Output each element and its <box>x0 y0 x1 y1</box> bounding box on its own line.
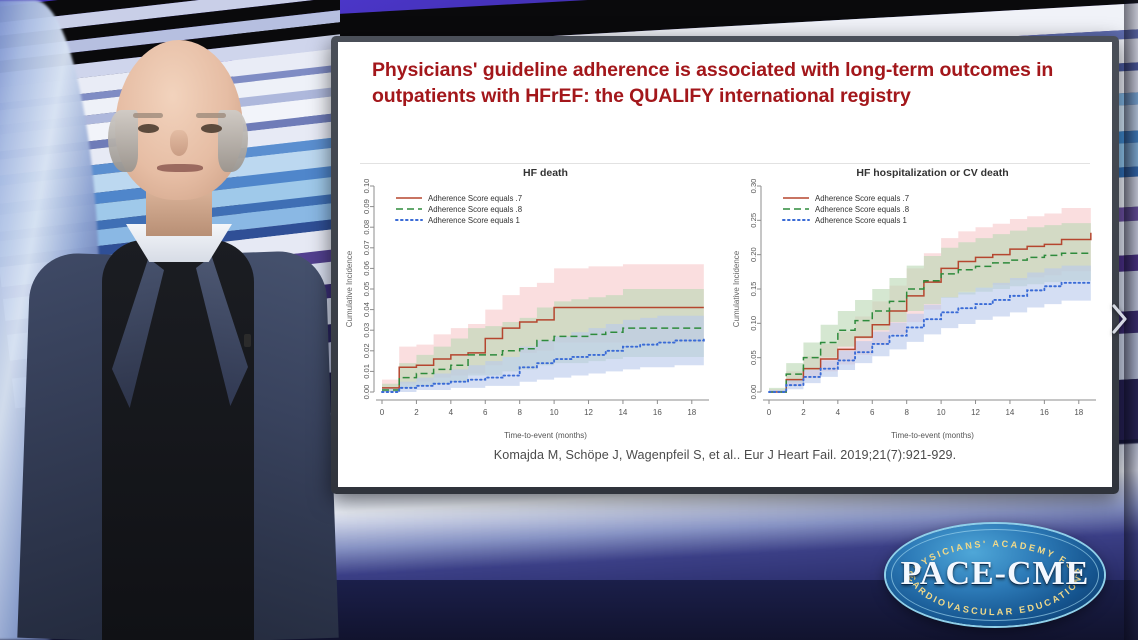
chart-hf-death: 0246810121416180.000.010.020.030.040.050… <box>338 164 725 444</box>
chart-title: HF hospitalization or CV death <box>856 167 1008 179</box>
presenter <box>20 18 330 640</box>
video-frame: Physicians' guideline adherence is assoc… <box>0 0 1138 640</box>
y-axis-title: Cumulative Incidence <box>345 250 354 327</box>
charts-row: 0246810121416180.000.010.020.030.040.050… <box>338 164 1112 444</box>
y-tick-label: 0.01 <box>362 364 371 379</box>
x-axis-title: Time-to-event (months) <box>891 431 974 440</box>
legend-label: Adherence Score equals .7 <box>815 194 909 203</box>
y-tick-label: 0.05 <box>362 282 371 297</box>
x-tick-label: 8 <box>904 408 909 417</box>
slide-screen: Physicians' guideline adherence is assoc… <box>331 36 1119 494</box>
y-tick-label: 0.25 <box>749 213 758 228</box>
chart-svg: 0246810121416180.000.010.020.030.040.050… <box>338 164 725 444</box>
pace-cme-logo: PHYSICIANS' ACADEMY FOR CARDIOVASCULAR E… <box>886 524 1104 626</box>
y-tick-label: 0.15 <box>749 282 758 297</box>
x-tick-label: 6 <box>483 408 488 417</box>
legend-label: Adherence Score equals 1 <box>815 216 907 225</box>
x-tick-label: 16 <box>653 408 662 417</box>
next-slide-button[interactable] <box>1106 296 1134 342</box>
legend-label: Adherence Score equals 1 <box>428 216 520 225</box>
x-tick-label: 14 <box>1005 408 1014 417</box>
y-tick-label: 0.05 <box>749 350 758 365</box>
y-tick-label: 0.06 <box>362 261 371 276</box>
x-tick-label: 12 <box>971 408 980 417</box>
sweater <box>102 240 254 640</box>
x-tick-label: 12 <box>584 408 593 417</box>
hair-right <box>218 110 248 172</box>
legend-label: Adherence Score equals .7 <box>428 194 522 203</box>
y-tick-label: 0.07 <box>362 240 371 255</box>
y-tick-label: 0.04 <box>362 302 371 317</box>
y-tick-label: 0.30 <box>749 179 758 194</box>
x-tick-label: 2 <box>414 408 419 417</box>
y-axis-title: Cumulative Incidence <box>732 250 741 327</box>
eyebrow-right <box>196 113 226 118</box>
lapel-microphone <box>244 334 251 347</box>
mouth <box>157 164 203 172</box>
chart-svg: 0246810121416180.000.050.100.150.200.250… <box>725 164 1112 444</box>
x-tick-label: 10 <box>937 408 946 417</box>
x-tick-label: 10 <box>550 408 559 417</box>
legend-label: Adherence Score equals .8 <box>428 205 522 214</box>
y-tick-label: 0.10 <box>749 316 758 331</box>
x-tick-label: 14 <box>618 408 627 417</box>
nose <box>170 130 188 156</box>
hair-left <box>108 110 138 172</box>
x-tick-label: 8 <box>517 408 522 417</box>
x-tick-label: 18 <box>1074 408 1083 417</box>
chart-title: HF death <box>523 167 568 179</box>
y-tick-label: 0.20 <box>749 247 758 262</box>
x-tick-label: 16 <box>1040 408 1049 417</box>
legend-label: Adherence Score equals .8 <box>815 205 909 214</box>
y-tick-label: 0.00 <box>362 385 371 400</box>
chevron-right-icon <box>1110 302 1130 336</box>
y-tick-label: 0.10 <box>362 179 371 194</box>
y-tick-label: 0.03 <box>362 323 371 338</box>
slide-content: Physicians' guideline adherence is assoc… <box>338 42 1112 487</box>
eye-right <box>201 124 222 133</box>
x-tick-label: 0 <box>380 408 385 417</box>
eyebrow-left <box>133 113 163 118</box>
x-tick-label: 2 <box>801 408 806 417</box>
y-tick-label: 0.02 <box>362 343 371 358</box>
x-tick-label: 18 <box>687 408 696 417</box>
eye-left <box>138 124 159 133</box>
chart-hf-hosp-cv-death: 0246810121416180.000.050.100.150.200.250… <box>725 164 1112 444</box>
x-tick-label: 6 <box>870 408 875 417</box>
logo-wordmark: PACE-CME <box>886 555 1104 593</box>
y-tick-label: 0.09 <box>362 199 371 214</box>
slide-citation: Komajda M, Schöpe J, Wagenpfeil S, et al… <box>338 448 1112 462</box>
slide-title: Physicians' guideline adherence is assoc… <box>372 58 1082 110</box>
x-axis-title: Time-to-event (months) <box>504 431 587 440</box>
x-tick-label: 4 <box>449 408 454 417</box>
x-tick-label: 0 <box>767 408 772 417</box>
y-tick-label: 0.08 <box>362 220 371 235</box>
y-tick-label: 0.00 <box>749 385 758 400</box>
x-tick-label: 4 <box>836 408 841 417</box>
